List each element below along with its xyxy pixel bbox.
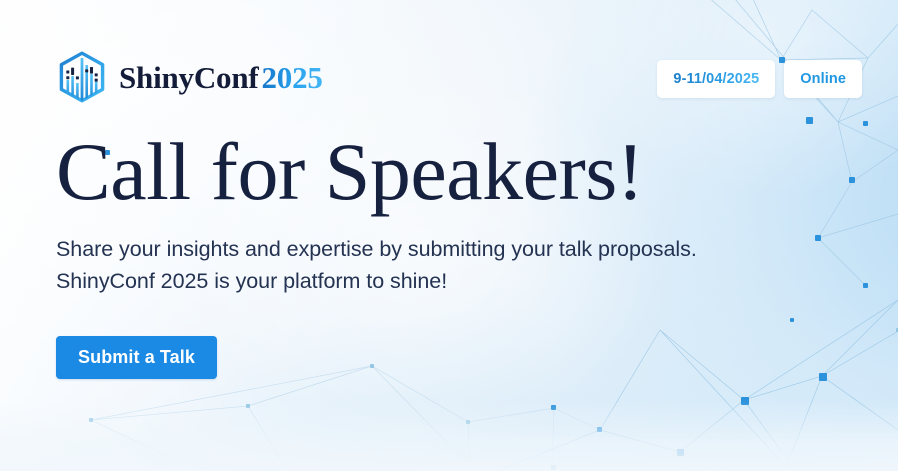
- event-mode-label: Online: [800, 71, 846, 87]
- call-for-speakers-banner: ShinyConf2025 9-11/04/2025 Online Call f…: [0, 0, 898, 471]
- background-bottom-fade: [0, 401, 898, 471]
- event-date-label: 9-11/04/2025: [673, 71, 759, 87]
- page-title: Call for Speakers!: [56, 132, 858, 212]
- brand-wordmark: ShinyConf2025: [119, 62, 323, 93]
- brand-year: 2025: [262, 60, 323, 95]
- hexagon-chart-logo-icon: [56, 50, 108, 104]
- brand-name: ShinyConf: [119, 60, 259, 95]
- hero-description: Share your insights and expertise by sub…: [56, 234, 856, 298]
- hero-section: Call for Speakers! Share your insights a…: [56, 132, 858, 379]
- brand-lockup[interactable]: ShinyConf2025: [56, 50, 323, 104]
- event-badges: 9-11/04/2025 Online: [657, 60, 862, 98]
- event-date-badge[interactable]: 9-11/04/2025: [657, 60, 775, 98]
- hero-description-line-1: Share your insights and expertise by sub…: [56, 234, 856, 266]
- event-mode-badge[interactable]: Online: [784, 60, 862, 98]
- hero-description-line-2: ShinyConf 2025 is your platform to shine…: [56, 266, 856, 298]
- submit-a-talk-button[interactable]: Submit a Talk: [56, 336, 217, 379]
